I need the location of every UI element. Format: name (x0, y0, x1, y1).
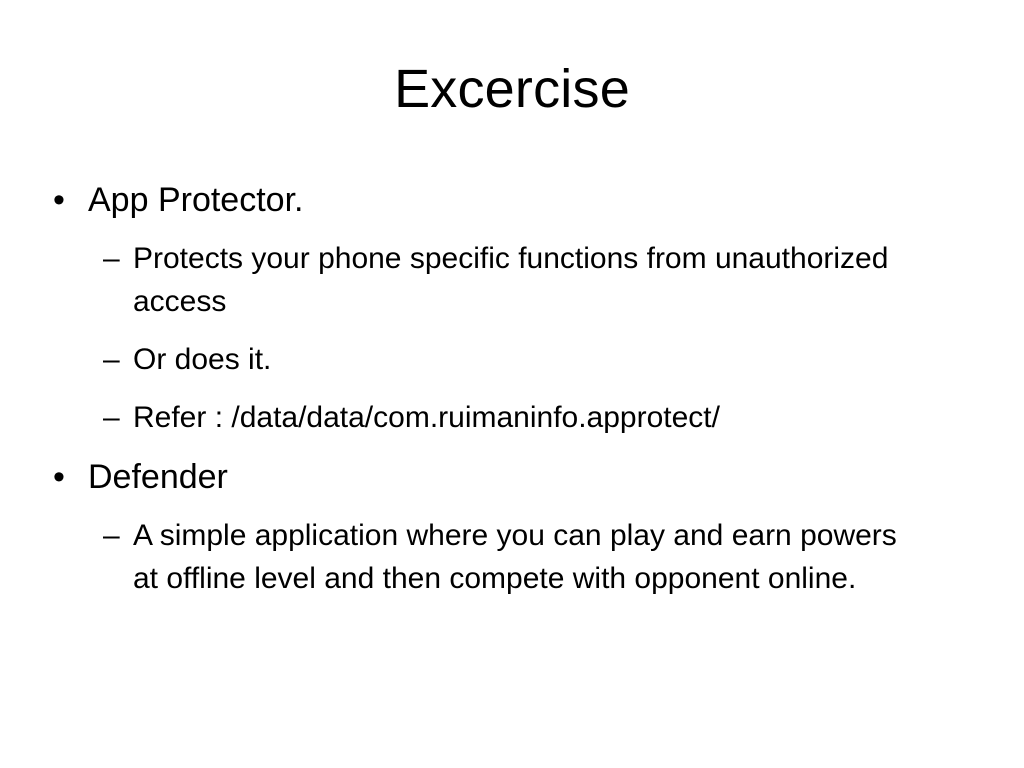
slide-body-outline: • App Protector. – Protects your phone s… (48, 178, 976, 600)
bullet-dot-icon: • (53, 455, 77, 499)
bullet-level2-refer-path: – Refer : /data/data/com.ruimaninfo.appr… (48, 396, 976, 439)
bullet-dot-icon: • (53, 178, 77, 222)
bullet-level1-defender: • Defender (48, 455, 976, 499)
bullet-text: Refer : /data/data/com.ruimaninfo.approt… (133, 396, 915, 439)
bullet-dash-icon: – (103, 514, 127, 557)
page-title: Excercise (0, 58, 1024, 120)
sub-list-app-protector: – Protects your phone specific functions… (48, 237, 976, 439)
outline-group-app-protector: • App Protector. – Protects your phone s… (48, 178, 976, 439)
bullet-text: Or does it. (133, 338, 915, 381)
bullet-text: App Protector. (88, 178, 976, 222)
slide: Excercise • App Protector. – Protects yo… (0, 0, 1024, 768)
bullet-text: A simple application where you can play … (133, 514, 915, 600)
bullet-level1-app-protector: • App Protector. (48, 178, 976, 222)
bullet-level2-protects-functions: – Protects your phone specific functions… (48, 237, 976, 323)
bullet-text: Defender (88, 455, 976, 499)
sub-list-defender: – A simple application where you can pla… (48, 514, 976, 600)
outline-group-defender: • Defender – A simple application where … (48, 455, 976, 600)
bullet-text: Protects your phone specific functions f… (133, 237, 915, 323)
bullet-level2-simple-application: – A simple application where you can pla… (48, 514, 976, 600)
bullet-dash-icon: – (103, 396, 127, 439)
bullet-dash-icon: – (103, 338, 127, 381)
bullet-dash-icon: – (103, 237, 127, 280)
bullet-level2-or-does-it: – Or does it. (48, 338, 976, 381)
